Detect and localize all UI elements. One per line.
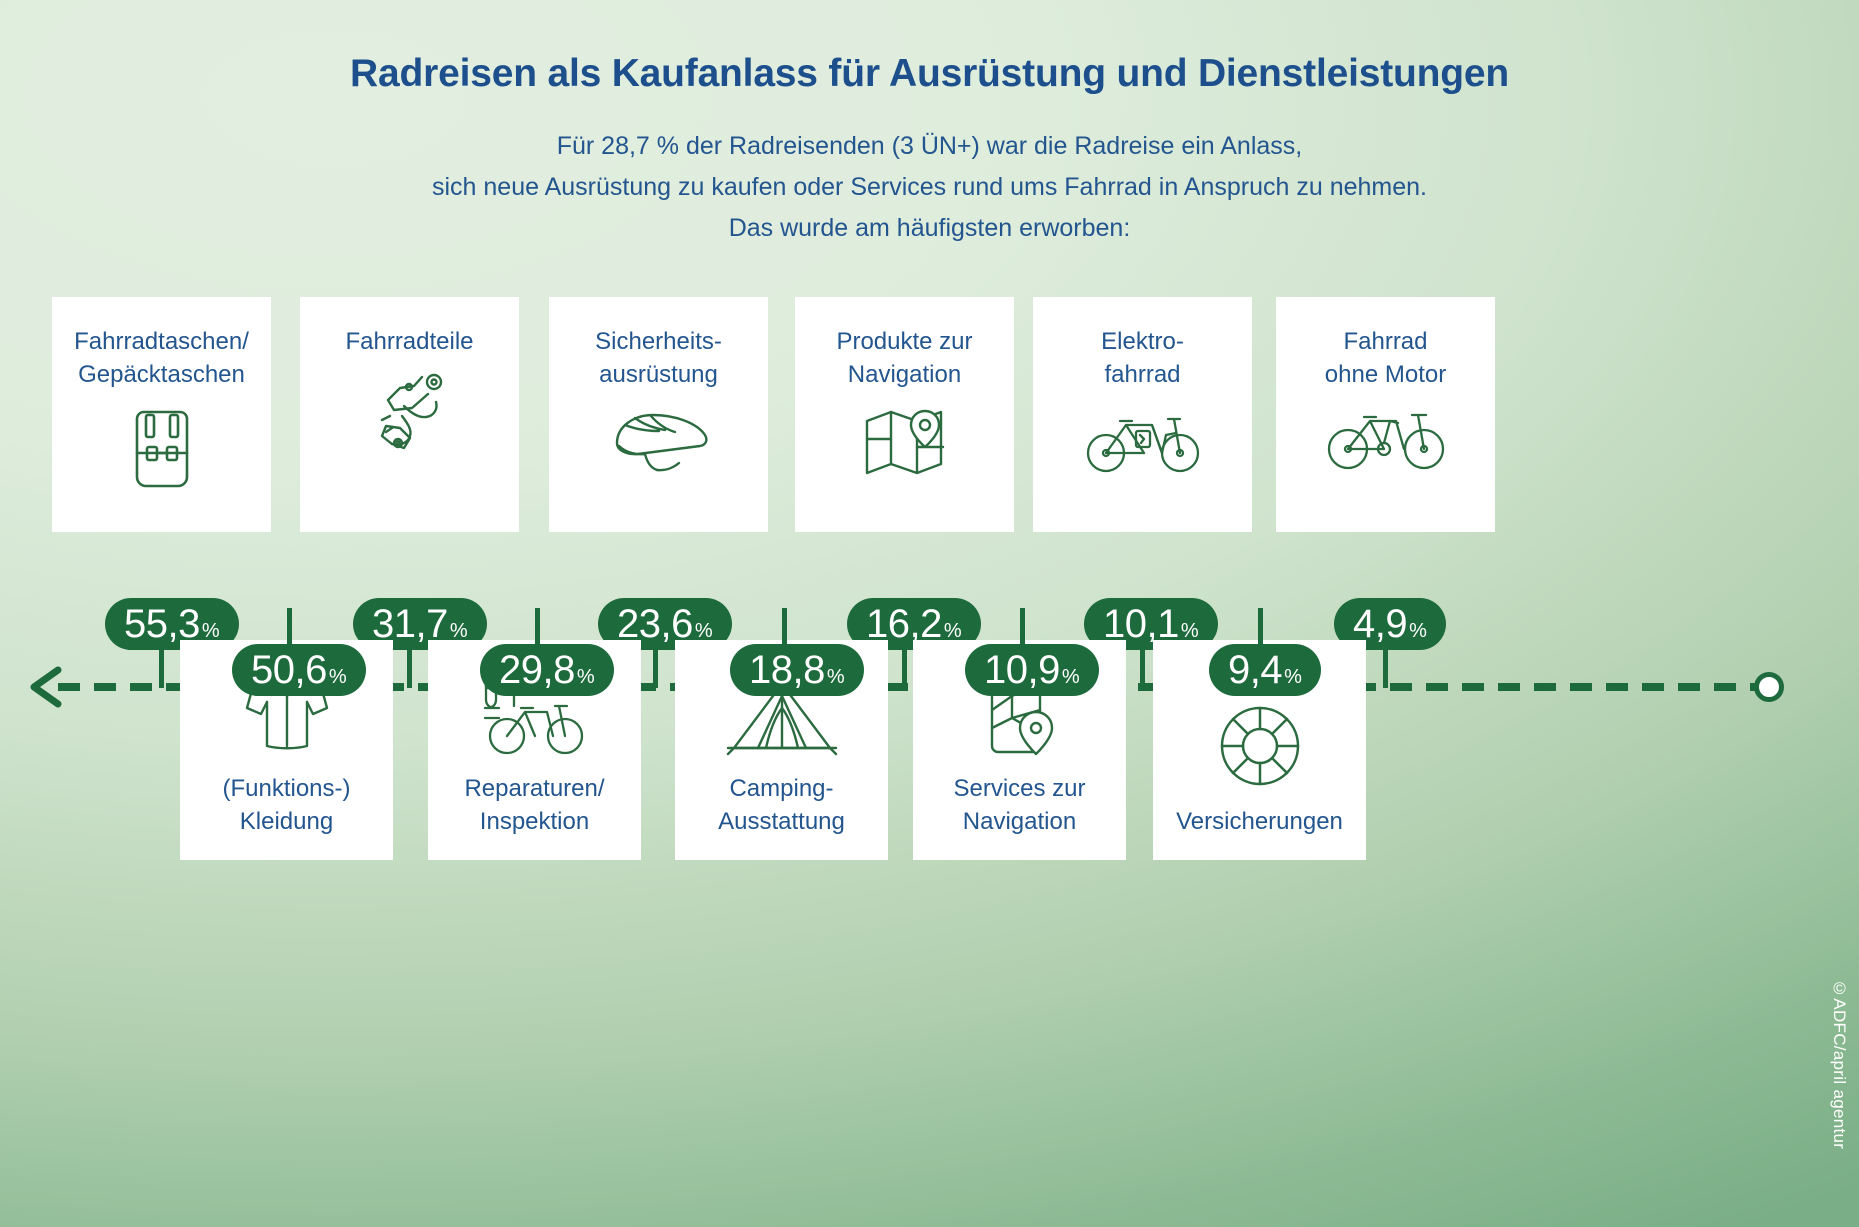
badge-stem [653, 650, 658, 688]
card-label: Fahrrad ohne Motor [1325, 325, 1446, 391]
badge-value: 50,6 [251, 644, 327, 696]
subtitle-line-3: Das wurde am häufigsten erworben: [0, 208, 1859, 249]
badge-stem [1258, 608, 1263, 648]
card-label: Sicherheits- ausrüstung [595, 325, 722, 391]
card-elektrofahrrad[interactable]: Elektro- fahrrad [1033, 297, 1252, 532]
badge-value: 18,8 [749, 644, 825, 696]
badge-unit: % [1062, 651, 1080, 703]
circle-dot-icon [1754, 672, 1784, 702]
badge-unit: % [577, 651, 595, 703]
page-title: Radreisen als Kaufanlass für Ausrüstung … [0, 52, 1859, 96]
card-fahrradteile[interactable]: Fahrradteile [300, 297, 519, 532]
subtitle-line-2: sich neue Ausrüstung zu kaufen oder Serv… [0, 167, 1859, 208]
badge-unit: % [1284, 651, 1302, 703]
badge-services-navigation: 10,9 % [965, 644, 1099, 696]
card-label: Produkte zur Navigation [836, 325, 972, 391]
badge-unit: % [827, 651, 845, 703]
badge-camping: 18,8 % [730, 644, 864, 696]
card-label: Reparaturen/ Inspektion [464, 772, 604, 838]
badge-stem [782, 608, 787, 648]
card-fahrrad-ohne-motor[interactable]: Fahrrad ohne Motor [1276, 297, 1495, 532]
badge-stem [1383, 650, 1388, 688]
card-label: Services zur Navigation [953, 772, 1085, 838]
badge-stem [1020, 608, 1025, 648]
lifebuoy-icon [1215, 701, 1305, 791]
page-subtitle: Für 28,7 % der Radreisenden (3 ÜN+) war … [0, 126, 1859, 249]
badge-stem [159, 650, 164, 688]
card-label: (Funktions-) Kleidung [222, 772, 350, 838]
card-label: Fahrradtaschen/ Gepäcktaschen [74, 325, 249, 391]
card-label: Versicherungen [1176, 805, 1343, 838]
badge-unit: % [1409, 605, 1427, 657]
pannier-bag-icon [123, 403, 201, 495]
card-label: Fahrradteile [345, 325, 473, 358]
badge-unit: % [329, 651, 347, 703]
badge-reparaturen: 29,8 % [480, 644, 614, 696]
badge-value: 9,4 [1228, 644, 1282, 696]
badge-stem [1140, 650, 1145, 688]
arrow-left-icon [28, 666, 62, 708]
badge-stem [407, 650, 412, 688]
map-pin-icon [859, 403, 951, 481]
badge-value: 29,8 [499, 644, 575, 696]
badge-stem [902, 650, 907, 688]
card-sicherheitsausruestung[interactable]: Sicherheits- ausrüstung [549, 297, 768, 532]
badge-stem [287, 608, 292, 648]
badge-value: 10,9 [984, 644, 1060, 696]
bicycle-icon [1322, 403, 1450, 471]
e-bike-icon [1082, 403, 1204, 475]
derailleur-icon [362, 370, 458, 458]
card-fahrradtaschen[interactable]: Fahrradtaschen/ Gepäcktaschen [52, 297, 271, 532]
card-label: Camping- Ausstattung [718, 772, 845, 838]
badge-stem [535, 608, 540, 648]
badge-versicherungen: 9,4 % [1209, 644, 1321, 696]
infographic-canvas: Radreisen als Kaufanlass für Ausrüstung … [0, 0, 1859, 1227]
subtitle-line-1: Für 28,7 % der Radreisenden (3 ÜN+) war … [0, 126, 1859, 167]
credit-text: ©ADFC/april agentur [1829, 979, 1849, 1149]
helmet-icon [607, 403, 711, 477]
badge-funktionskleidung: 50,6 % [232, 644, 366, 696]
card-label: Elektro- fahrrad [1101, 325, 1184, 391]
card-produkte-navigation[interactable]: Produkte zur Navigation [795, 297, 1014, 532]
